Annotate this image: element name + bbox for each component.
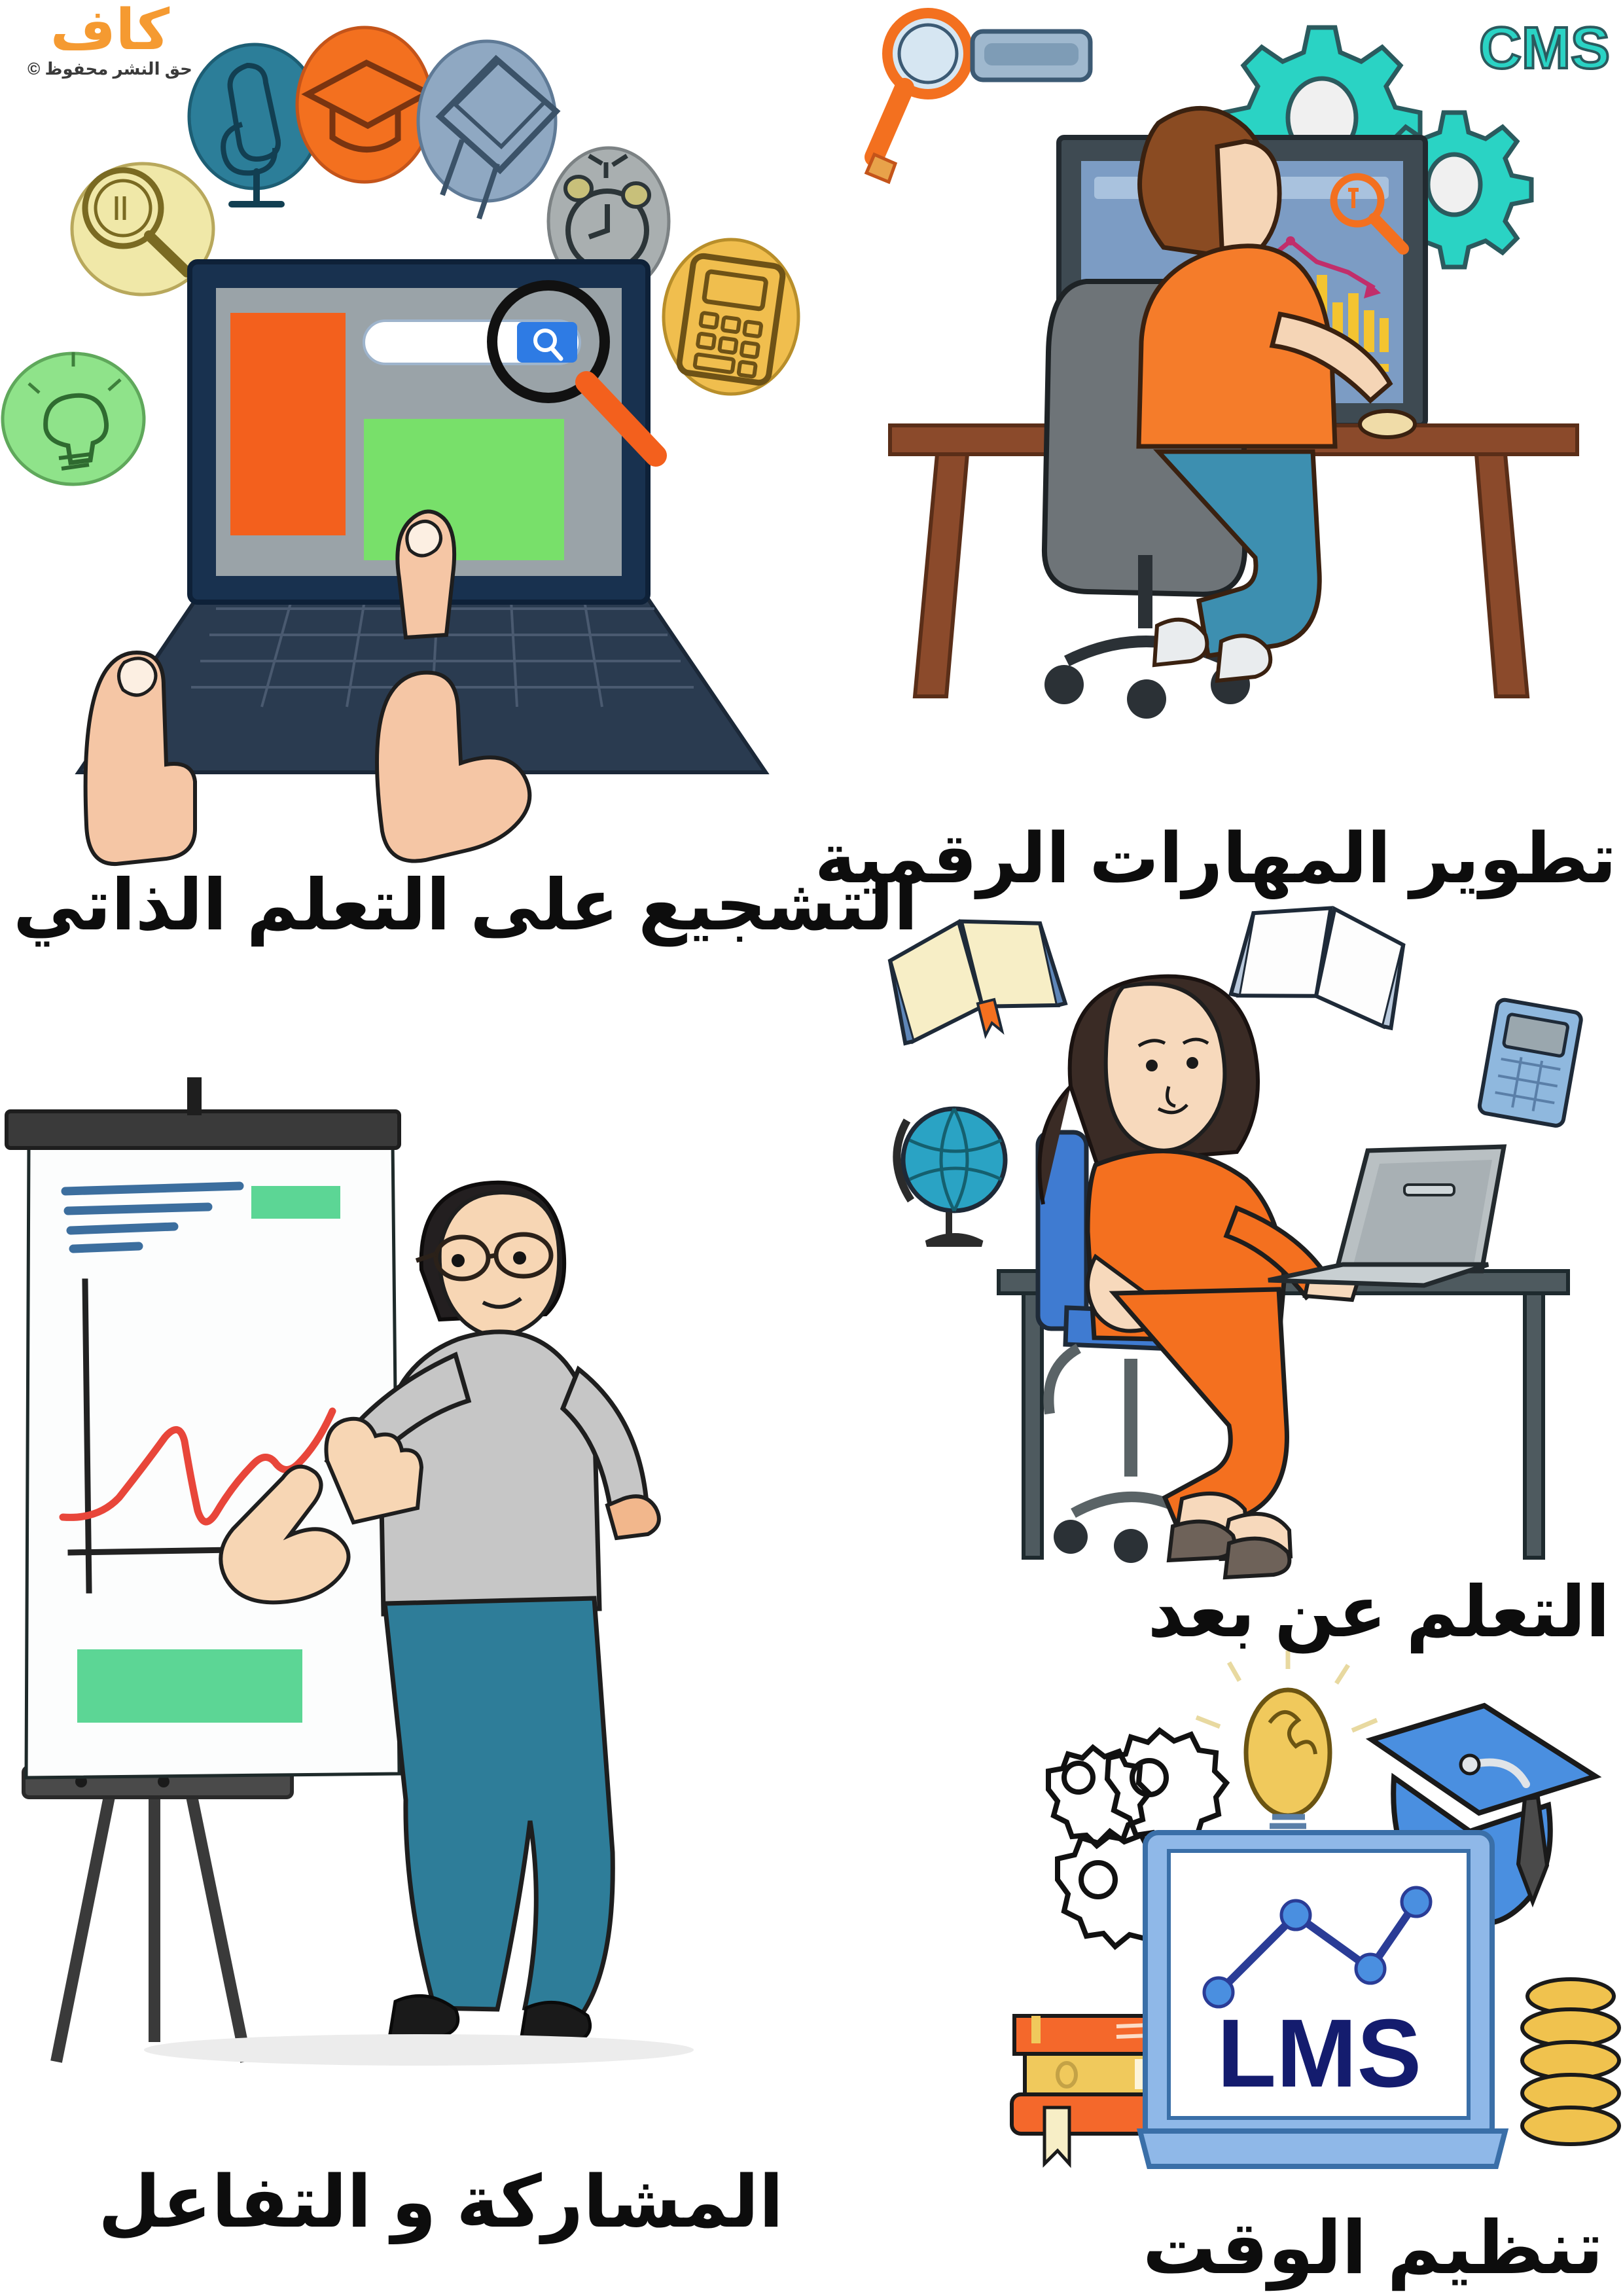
coin-stack	[1522, 1979, 1619, 2144]
caption-digital-skills: تطوير المهارات الرقمية	[815, 818, 1616, 899]
search-bar[interactable]	[364, 321, 580, 364]
caption-participation: المشاركة و التفاعل	[98, 2160, 783, 2244]
icon-bubble-calculator	[664, 240, 798, 394]
panel-participation	[0, 1073, 838, 2173]
highlight-block-top	[251, 1186, 340, 1219]
lightbulb-icon	[1196, 1651, 1377, 1835]
open-book-icon-right	[1231, 891, 1413, 1028]
panel-time-management: LMS	[1021, 1649, 1623, 2225]
flipchart-top-bar	[7, 1111, 399, 1148]
flipchart-tripod	[56, 1787, 246, 2062]
icon-bubble-lightbulb	[3, 352, 144, 484]
cms-badge: CMS	[1479, 16, 1610, 81]
globe-icon	[897, 1109, 1005, 1244]
screen-block-green	[364, 419, 564, 560]
panel-digital-skills: CMS	[851, 0, 1623, 812]
panel-self-learning	[0, 0, 838, 851]
icon-bubble-easel-board	[418, 41, 556, 219]
screen-block-orange	[230, 313, 346, 535]
floor-shadow	[144, 2034, 694, 2066]
panel-remote-learning	[870, 890, 1623, 1584]
infographic-sheet: كاف حق النشر محفوظ ©	[0, 0, 1623, 2296]
icon-bubble-graduation-cap	[297, 27, 432, 182]
caption-time-management: تنظيم الوقت	[1143, 2206, 1603, 2291]
caption-remote-learning: التعلم عن بعد	[1148, 1571, 1610, 1653]
lms-badge: LMS	[1217, 2000, 1421, 2108]
caption-self-learning: التشجيع على التعلم الذاتي	[13, 864, 918, 946]
calculator-icon	[1478, 999, 1582, 1127]
lms-screen: LMS	[1140, 1833, 1505, 2166]
highlight-block-bottom	[77, 1649, 302, 1723]
